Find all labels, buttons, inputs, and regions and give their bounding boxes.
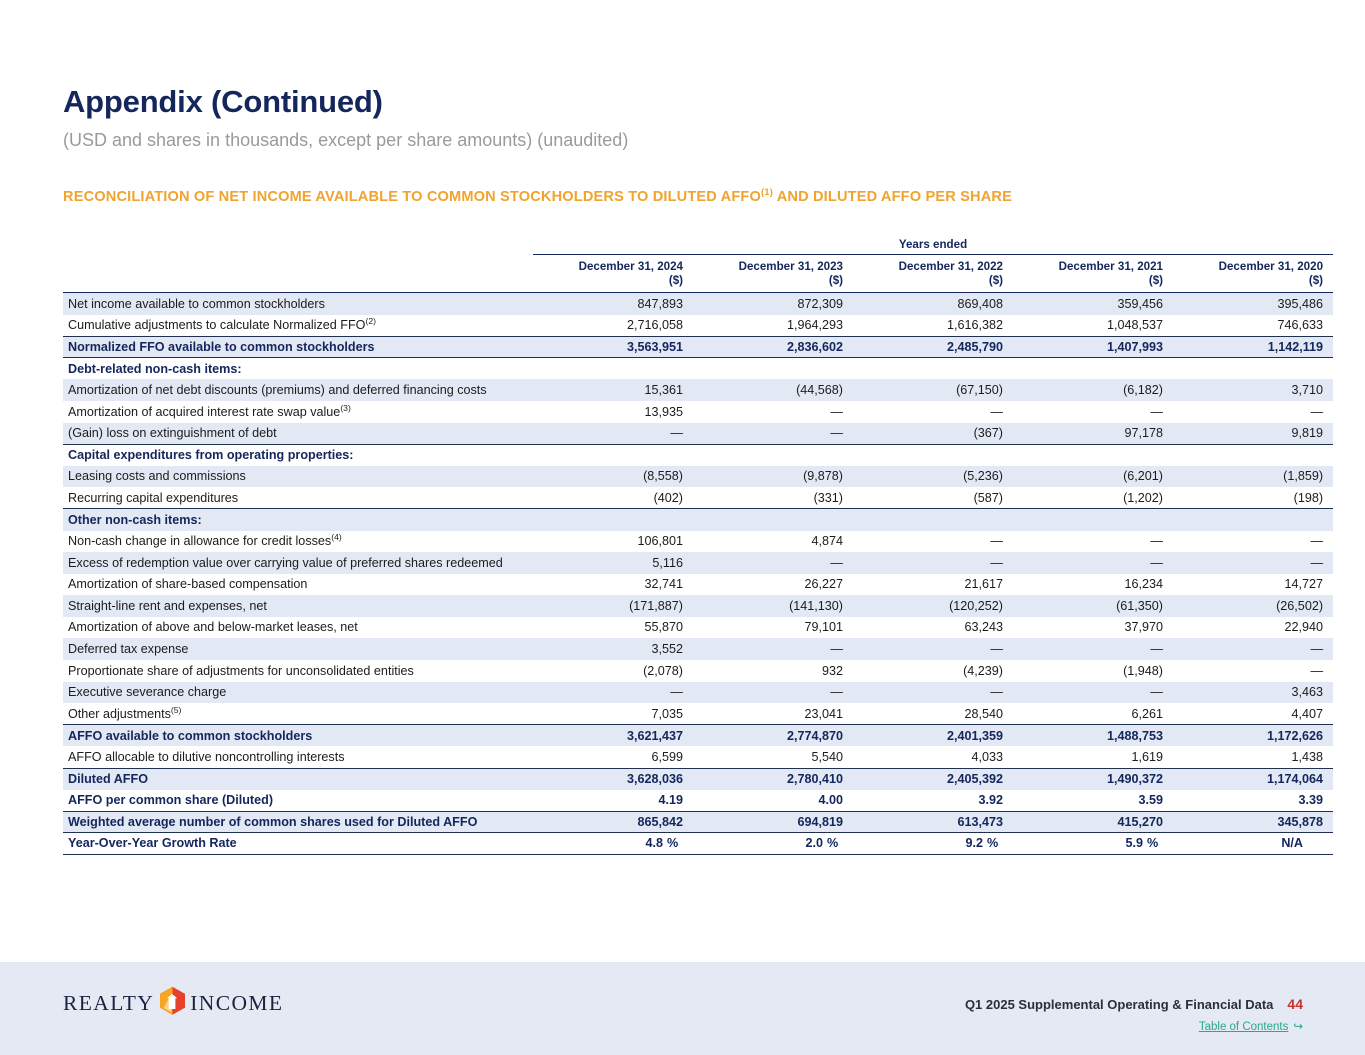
row-label: Normalized FFO available to common stock… bbox=[63, 336, 533, 358]
row-value bbox=[1013, 509, 1173, 531]
row-label: Amortization of share-based compensation bbox=[63, 574, 533, 596]
row-value bbox=[1013, 444, 1173, 466]
row-value: 13,935 bbox=[533, 401, 693, 423]
row-value: (6,201) bbox=[1013, 466, 1173, 488]
table-row: Proportionate share of adjustments for u… bbox=[63, 660, 1333, 682]
row-value: 1,142,119 bbox=[1173, 336, 1333, 358]
row-value: 97,178 bbox=[1013, 423, 1173, 445]
row-value: (141,130) bbox=[693, 595, 853, 617]
link-arrow-icon: ↪ bbox=[1293, 1021, 1303, 1033]
row-value: 5,540 bbox=[693, 746, 853, 768]
row-value: (171,887) bbox=[533, 595, 693, 617]
page-number: 44 bbox=[1287, 996, 1303, 1012]
row-label: Amortization of net debt discounts (prem… bbox=[63, 379, 533, 401]
row-value: 14,727 bbox=[1173, 574, 1333, 596]
table-row: Recurring capital expenditures(402)(331)… bbox=[63, 487, 1333, 509]
table-row: Non-cash change in allowance for credit … bbox=[63, 531, 1333, 553]
realty-income-logo: REALTY INCOME bbox=[63, 986, 283, 1020]
group-header-spacer bbox=[63, 238, 533, 255]
column-header-5: December 31, 2020($) bbox=[1173, 255, 1333, 290]
row-value bbox=[853, 358, 1013, 380]
column-header-unit: ($) bbox=[1173, 274, 1323, 288]
row-label: Straight-line rent and expenses, net bbox=[63, 595, 533, 617]
row-value: 4,407 bbox=[1173, 703, 1333, 725]
row-value: (26,502) bbox=[1173, 595, 1333, 617]
table-row: Excess of redemption value over carrying… bbox=[63, 552, 1333, 574]
row-label: Amortization of acquired interest rate s… bbox=[63, 401, 533, 423]
footnote-marker: (3) bbox=[340, 403, 351, 413]
row-value: — bbox=[853, 531, 1013, 553]
table-row: Amortization of net debt discounts (prem… bbox=[63, 379, 1333, 401]
row-value: 395,486 bbox=[1173, 293, 1333, 315]
row-value: (4,239) bbox=[853, 660, 1013, 682]
row-value: — bbox=[853, 552, 1013, 574]
table-row: Diluted AFFO3,628,0362,780,4102,405,3921… bbox=[63, 768, 1333, 790]
column-header-date: December 31, 2022 bbox=[899, 260, 1003, 273]
row-value: — bbox=[1173, 531, 1333, 553]
row-label: Amortization of above and below-market l… bbox=[63, 617, 533, 639]
row-value: 32,741 bbox=[533, 574, 693, 596]
hexagon-house-icon bbox=[159, 986, 186, 1020]
row-value bbox=[1173, 509, 1333, 531]
row-value: 4.00 bbox=[693, 790, 853, 812]
percent-symbol: % bbox=[1147, 836, 1163, 850]
page-footer: REALTY INCOME Q1 2025 Supplemental Opera… bbox=[0, 962, 1365, 1055]
row-value: 63,243 bbox=[853, 617, 1013, 639]
row-label: Non-cash change in allowance for credit … bbox=[63, 531, 533, 553]
row-label: Other adjustments(5) bbox=[63, 703, 533, 725]
row-value: N/A bbox=[1173, 833, 1333, 855]
row-value: 2,716,058 bbox=[533, 315, 693, 337]
table-row: Cumulative adjustments to calculate Norm… bbox=[63, 315, 1333, 337]
row-value: — bbox=[853, 638, 1013, 660]
column-header-date: December 31, 2024 bbox=[579, 260, 683, 273]
row-value: (120,252) bbox=[853, 595, 1013, 617]
row-value: 28,540 bbox=[853, 703, 1013, 725]
section-title: RECONCILIATION OF NET INCOME AVAILABLE T… bbox=[63, 188, 1343, 205]
row-value: 1,407,993 bbox=[1013, 336, 1173, 358]
row-value: — bbox=[1013, 531, 1173, 553]
column-header-unit: ($) bbox=[1013, 274, 1163, 288]
row-value: 1,048,537 bbox=[1013, 315, 1173, 337]
row-label: Executive severance charge bbox=[63, 682, 533, 704]
row-label: Other non-cash items: bbox=[63, 509, 533, 531]
row-value bbox=[693, 444, 853, 466]
row-value: 2,405,392 bbox=[853, 768, 1013, 790]
row-value: — bbox=[1013, 638, 1173, 660]
row-value: 9,819 bbox=[1173, 423, 1333, 445]
row-value: 21,617 bbox=[853, 574, 1013, 596]
row-value: 37,970 bbox=[1013, 617, 1173, 639]
column-header-unit: ($) bbox=[853, 274, 1003, 288]
row-value: 746,633 bbox=[1173, 315, 1333, 337]
footer-doc-title: Q1 2025 Supplemental Operating & Financi… bbox=[965, 997, 1273, 1012]
row-value: 3,463 bbox=[1173, 682, 1333, 704]
column-header-unit: ($) bbox=[533, 274, 683, 288]
table-row: Other adjustments(5)7,03523,04128,5406,2… bbox=[63, 703, 1333, 725]
row-value: (9,878) bbox=[693, 466, 853, 488]
row-value: 6,599 bbox=[533, 746, 693, 768]
row-value: 1,172,626 bbox=[1173, 725, 1333, 747]
percent-symbol: % bbox=[987, 836, 1003, 850]
row-label: Net income available to common stockhold… bbox=[63, 293, 533, 315]
table-row: Net income available to common stockhold… bbox=[63, 293, 1333, 315]
row-value: 1,964,293 bbox=[693, 315, 853, 337]
table-row: Amortization of acquired interest rate s… bbox=[63, 401, 1333, 423]
row-value bbox=[533, 358, 693, 380]
row-value: 1,174,064 bbox=[1173, 768, 1333, 790]
column-header-blank bbox=[63, 255, 533, 290]
row-value: — bbox=[693, 682, 853, 704]
row-value: 3,710 bbox=[1173, 379, 1333, 401]
row-value: 694,819 bbox=[693, 811, 853, 833]
row-value: 865,842 bbox=[533, 811, 693, 833]
row-value: (1,948) bbox=[1013, 660, 1173, 682]
row-value: 3,621,437 bbox=[533, 725, 693, 747]
row-value: — bbox=[1173, 660, 1333, 682]
row-value: 415,270 bbox=[1013, 811, 1173, 833]
table-row: Other non-cash items: bbox=[63, 509, 1333, 531]
row-value: 1,490,372 bbox=[1013, 768, 1173, 790]
row-value: 2,774,870 bbox=[693, 725, 853, 747]
row-value bbox=[693, 509, 853, 531]
row-value: (367) bbox=[853, 423, 1013, 445]
table-of-contents-link[interactable]: Table of Contents bbox=[1199, 1021, 1289, 1033]
column-header-unit: ($) bbox=[693, 274, 843, 288]
row-value: 4,874 bbox=[693, 531, 853, 553]
row-value: 3,563,951 bbox=[533, 336, 693, 358]
logo-word-realty: REALTY bbox=[63, 991, 154, 1016]
table-row: Deferred tax expense3,552———— bbox=[63, 638, 1333, 660]
value-text: N/A bbox=[1281, 836, 1303, 850]
row-value: 3,628,036 bbox=[533, 768, 693, 790]
row-value: 3,552 bbox=[533, 638, 693, 660]
table-row: AFFO available to common stockholders3,6… bbox=[63, 725, 1333, 747]
row-value: 5,116 bbox=[533, 552, 693, 574]
row-value: — bbox=[693, 423, 853, 445]
row-value: — bbox=[853, 401, 1013, 423]
row-value: 7,035 bbox=[533, 703, 693, 725]
row-label: AFFO allocable to dilutive noncontrollin… bbox=[63, 746, 533, 768]
row-value: — bbox=[693, 638, 853, 660]
row-label: (Gain) loss on extinguishment of debt bbox=[63, 423, 533, 445]
row-value: 613,473 bbox=[853, 811, 1013, 833]
logo-word-income: INCOME bbox=[190, 991, 283, 1016]
table-of-contents-line: Table of Contents↪ bbox=[965, 1019, 1303, 1033]
page-header: Appendix (Continued) (USD and shares in … bbox=[63, 86, 1333, 149]
page-title: Appendix (Continued) bbox=[63, 86, 1333, 117]
footnote-marker: (2) bbox=[365, 316, 376, 326]
table-row: Normalized FFO available to common stock… bbox=[63, 336, 1333, 358]
table-row: Debt-related non-cash items: bbox=[63, 358, 1333, 380]
row-value: 1,438 bbox=[1173, 746, 1333, 768]
row-value: (587) bbox=[853, 487, 1013, 509]
row-value: (61,350) bbox=[1013, 595, 1173, 617]
row-value: (2,078) bbox=[533, 660, 693, 682]
row-value: 345,878 bbox=[1173, 811, 1333, 833]
row-value: 5.9% bbox=[1013, 833, 1173, 855]
row-value: 847,893 bbox=[533, 293, 693, 315]
row-value bbox=[693, 358, 853, 380]
table-column-header-row: December 31, 2024($)December 31, 2023($)… bbox=[63, 255, 1333, 290]
row-value: — bbox=[693, 552, 853, 574]
row-value: 2,401,359 bbox=[853, 725, 1013, 747]
section-title-main: RECONCILIATION OF NET INCOME AVAILABLE T… bbox=[63, 189, 761, 205]
row-value: 1,619 bbox=[1013, 746, 1173, 768]
row-value: 23,041 bbox=[693, 703, 853, 725]
row-value bbox=[1173, 444, 1333, 466]
row-value: — bbox=[1013, 552, 1173, 574]
row-value: (5,236) bbox=[853, 466, 1013, 488]
table-row: (Gain) loss on extinguishment of debt——(… bbox=[63, 423, 1333, 445]
row-value: (402) bbox=[533, 487, 693, 509]
row-value: 9.2% bbox=[853, 833, 1013, 855]
row-value: — bbox=[533, 423, 693, 445]
row-value bbox=[533, 509, 693, 531]
row-value: (6,182) bbox=[1013, 379, 1173, 401]
row-value: 359,456 bbox=[1013, 293, 1173, 315]
row-value: — bbox=[533, 682, 693, 704]
row-value bbox=[533, 444, 693, 466]
row-value: 4,033 bbox=[853, 746, 1013, 768]
percent-symbol: % bbox=[667, 836, 683, 850]
row-value: (1,202) bbox=[1013, 487, 1173, 509]
row-value: 3.59 bbox=[1013, 790, 1173, 812]
row-value: 2.0% bbox=[693, 833, 853, 855]
value-text: 5.9 bbox=[1125, 836, 1143, 850]
row-value bbox=[1173, 358, 1333, 380]
row-value: 1,488,753 bbox=[1013, 725, 1173, 747]
table-group-header-row: Years ended bbox=[63, 238, 1333, 255]
row-value: 55,870 bbox=[533, 617, 693, 639]
row-value: — bbox=[853, 682, 1013, 704]
row-value: 15,361 bbox=[533, 379, 693, 401]
row-value: (44,568) bbox=[693, 379, 853, 401]
row-value: (331) bbox=[693, 487, 853, 509]
row-value: — bbox=[1173, 401, 1333, 423]
footer-doc-title-line: Q1 2025 Supplemental Operating & Financi… bbox=[965, 996, 1303, 1012]
slide-page: Appendix (Continued) (USD and shares in … bbox=[0, 0, 1365, 1055]
row-label: Diluted AFFO bbox=[63, 768, 533, 790]
footnote-marker: (4) bbox=[331, 532, 342, 542]
reconciliation-table-wrapper: Years endedDecember 31, 2024($)December … bbox=[63, 238, 1333, 855]
value-text: 2.0 bbox=[805, 836, 823, 850]
row-value: 4.19 bbox=[533, 790, 693, 812]
reconciliation-table: Years endedDecember 31, 2024($)December … bbox=[63, 238, 1333, 855]
row-label: Cumulative adjustments to calculate Norm… bbox=[63, 315, 533, 337]
row-value: (67,150) bbox=[853, 379, 1013, 401]
table-row: Executive severance charge————3,463 bbox=[63, 682, 1333, 704]
row-label: AFFO available to common stockholders bbox=[63, 725, 533, 747]
footnote-marker: (5) bbox=[171, 705, 182, 715]
column-header-3: December 31, 2022($) bbox=[853, 255, 1013, 290]
row-value: 16,234 bbox=[1013, 574, 1173, 596]
row-label: AFFO per common share (Diluted) bbox=[63, 790, 533, 812]
table-row: Amortization of share-based compensation… bbox=[63, 574, 1333, 596]
row-value: 79,101 bbox=[693, 617, 853, 639]
table-row: Straight-line rent and expenses, net(171… bbox=[63, 595, 1333, 617]
section-title-tail: AND DILUTED AFFO PER SHARE bbox=[773, 189, 1012, 205]
row-label: Recurring capital expenditures bbox=[63, 487, 533, 509]
table-body: Years endedDecember 31, 2024($)December … bbox=[63, 238, 1333, 854]
row-value: (1,859) bbox=[1173, 466, 1333, 488]
row-value: 872,309 bbox=[693, 293, 853, 315]
row-value: 869,408 bbox=[853, 293, 1013, 315]
row-label: Capital expenditures from operating prop… bbox=[63, 444, 533, 466]
row-value: 3.39 bbox=[1173, 790, 1333, 812]
row-value: 6,261 bbox=[1013, 703, 1173, 725]
row-label: Excess of redemption value over carrying… bbox=[63, 552, 533, 574]
row-value: 2,780,410 bbox=[693, 768, 853, 790]
row-value: — bbox=[1173, 552, 1333, 574]
group-header-label: Years ended bbox=[533, 238, 1333, 255]
table-row: Amortization of above and below-market l… bbox=[63, 617, 1333, 639]
row-value: 3.92 bbox=[853, 790, 1013, 812]
row-value bbox=[853, 444, 1013, 466]
row-value: 22,940 bbox=[1173, 617, 1333, 639]
row-value: (198) bbox=[1173, 487, 1333, 509]
footnote-marker-1: (1) bbox=[761, 187, 773, 198]
row-value: 2,485,790 bbox=[853, 336, 1013, 358]
column-header-2: December 31, 2023($) bbox=[693, 255, 853, 290]
row-value: — bbox=[1173, 638, 1333, 660]
column-header-date: December 31, 2020 bbox=[1219, 260, 1323, 273]
row-label: Leasing costs and commissions bbox=[63, 466, 533, 488]
table-row: AFFO per common share (Diluted)4.194.003… bbox=[63, 790, 1333, 812]
row-value bbox=[1013, 358, 1173, 380]
column-header-date: December 31, 2021 bbox=[1059, 260, 1163, 273]
row-label: Weighted average number of common shares… bbox=[63, 811, 533, 833]
table-row: Leasing costs and commissions(8,558)(9,8… bbox=[63, 466, 1333, 488]
row-label: Deferred tax expense bbox=[63, 638, 533, 660]
row-value: — bbox=[693, 401, 853, 423]
row-value: 4.8% bbox=[533, 833, 693, 855]
row-value: (8,558) bbox=[533, 466, 693, 488]
table-row: Weighted average number of common shares… bbox=[63, 811, 1333, 833]
column-header-4: December 31, 2021($) bbox=[1013, 255, 1173, 290]
row-value: 26,227 bbox=[693, 574, 853, 596]
page-subtitle: (USD and shares in thousands, except per… bbox=[63, 131, 1333, 149]
row-value: — bbox=[1013, 401, 1173, 423]
row-value: 2,836,602 bbox=[693, 336, 853, 358]
row-value bbox=[853, 509, 1013, 531]
row-label: Debt-related non-cash items: bbox=[63, 358, 533, 380]
table-row: Year-Over-Year Growth Rate4.8%2.0%9.2%5.… bbox=[63, 833, 1333, 855]
table-row: Capital expenditures from operating prop… bbox=[63, 444, 1333, 466]
value-text: 4.8 bbox=[645, 836, 663, 850]
footer-right-block: Q1 2025 Supplemental Operating & Financi… bbox=[965, 996, 1303, 1033]
row-value: 1,616,382 bbox=[853, 315, 1013, 337]
row-value: 932 bbox=[693, 660, 853, 682]
percent-symbol: % bbox=[827, 836, 843, 850]
row-value: 106,801 bbox=[533, 531, 693, 553]
row-label: Year-Over-Year Growth Rate bbox=[63, 833, 533, 855]
column-header-date: December 31, 2023 bbox=[739, 260, 843, 273]
row-value: — bbox=[1013, 682, 1173, 704]
column-header-1: December 31, 2024($) bbox=[533, 255, 693, 290]
table-row: AFFO allocable to dilutive noncontrollin… bbox=[63, 746, 1333, 768]
value-text: 9.2 bbox=[965, 836, 983, 850]
row-label: Proportionate share of adjustments for u… bbox=[63, 660, 533, 682]
